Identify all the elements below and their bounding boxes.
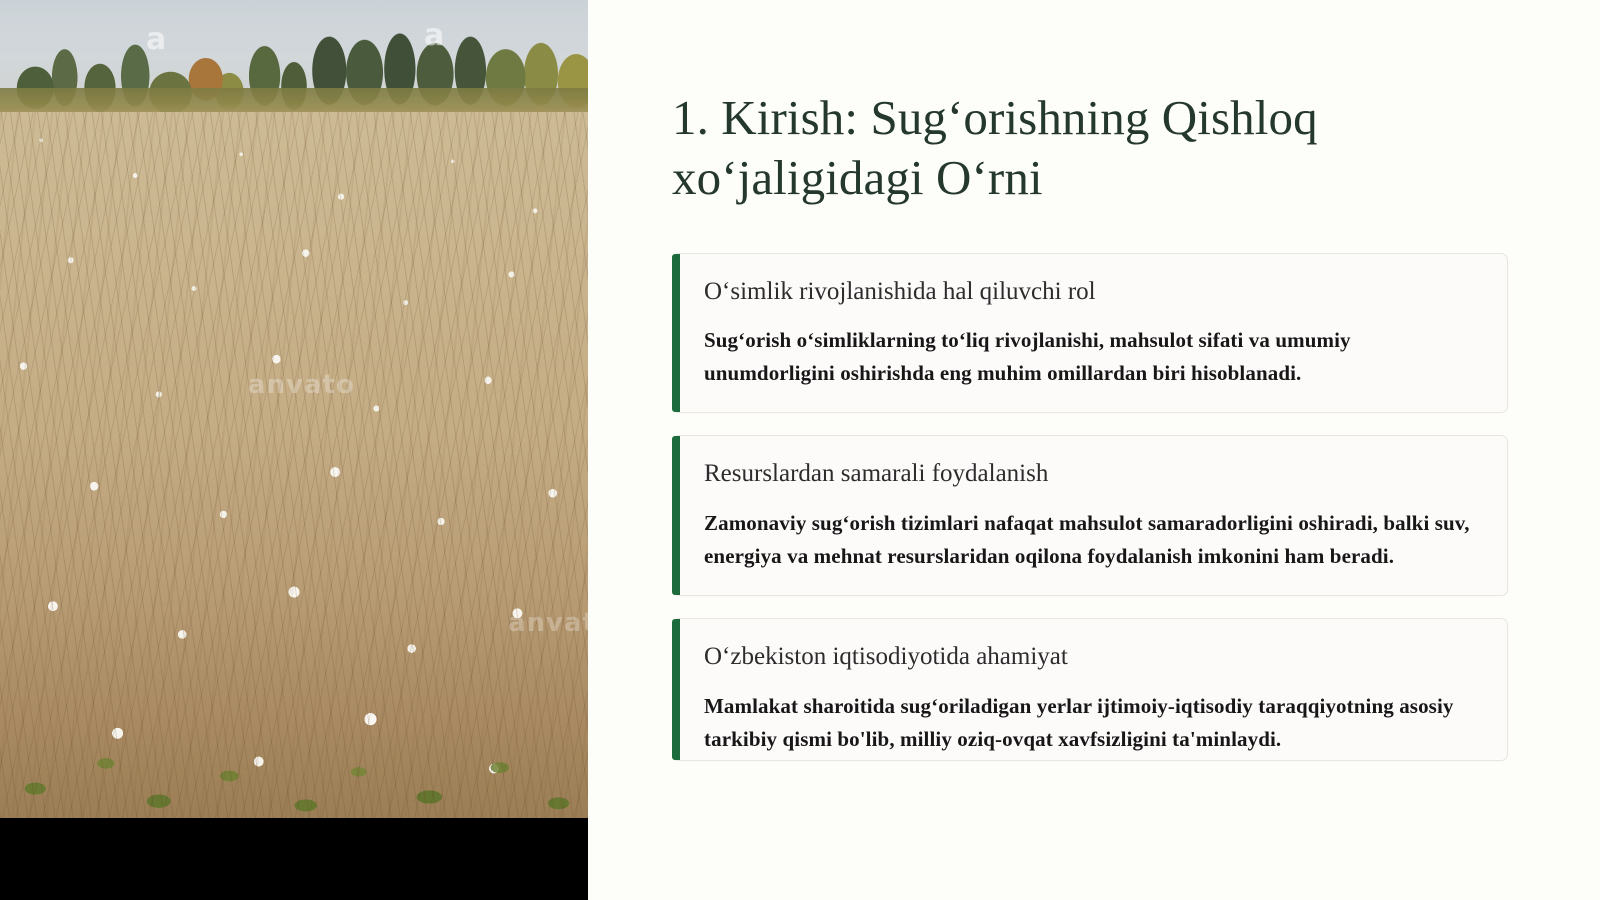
point-card-2: Resurslardan samarali foydalanish Zamona…	[672, 435, 1508, 596]
slide-title: 1. Kirish: Sug‘orishning Qishloq xo‘jali…	[672, 88, 1462, 209]
letterbox-bar	[0, 818, 588, 900]
presentation-slide: a a anvato anvato 1. Kirish: Sug‘orishni…	[0, 0, 1600, 900]
point-card-2-heading: Resurslardan samarali foydalanish	[704, 458, 1477, 491]
point-card-2-body: Zamonaviy sug‘orish tizimlari nafaqat ma…	[704, 507, 1477, 573]
point-card-1-body: Sug‘orish o‘simliklarning to‘liq rivojla…	[704, 324, 1477, 390]
slide-content-panel: 1. Kirish: Sug‘orishning Qishloq xo‘jali…	[588, 0, 1600, 900]
point-card-1: O‘simlik rivojlanishida hal qiluvchi rol…	[672, 253, 1508, 414]
point-card-list: O‘simlik rivojlanishida hal qiluvchi rol…	[672, 253, 1508, 762]
point-card-3-heading: O‘zbekiston iqtisodiyotida ahamiyat	[704, 641, 1477, 674]
foreground-foliage-region	[0, 608, 588, 818]
card-accent-bar-icon	[672, 436, 680, 595]
point-card-1-heading: O‘simlik rivojlanishida hal qiluvchi rol	[704, 276, 1477, 309]
slide-media-panel: a a anvato anvato	[0, 0, 588, 900]
point-card-3: O‘zbekiston iqtisodiyotida ahamiyat Maml…	[672, 618, 1508, 761]
card-accent-bar-icon	[672, 254, 680, 413]
cotton-field-region	[0, 112, 588, 818]
card-accent-bar-icon	[672, 619, 680, 760]
point-card-3-body: Mamlakat sharoitida sug‘oriladigan yerla…	[704, 690, 1477, 756]
cotton-field-photo: a a anvato anvato	[0, 0, 588, 818]
